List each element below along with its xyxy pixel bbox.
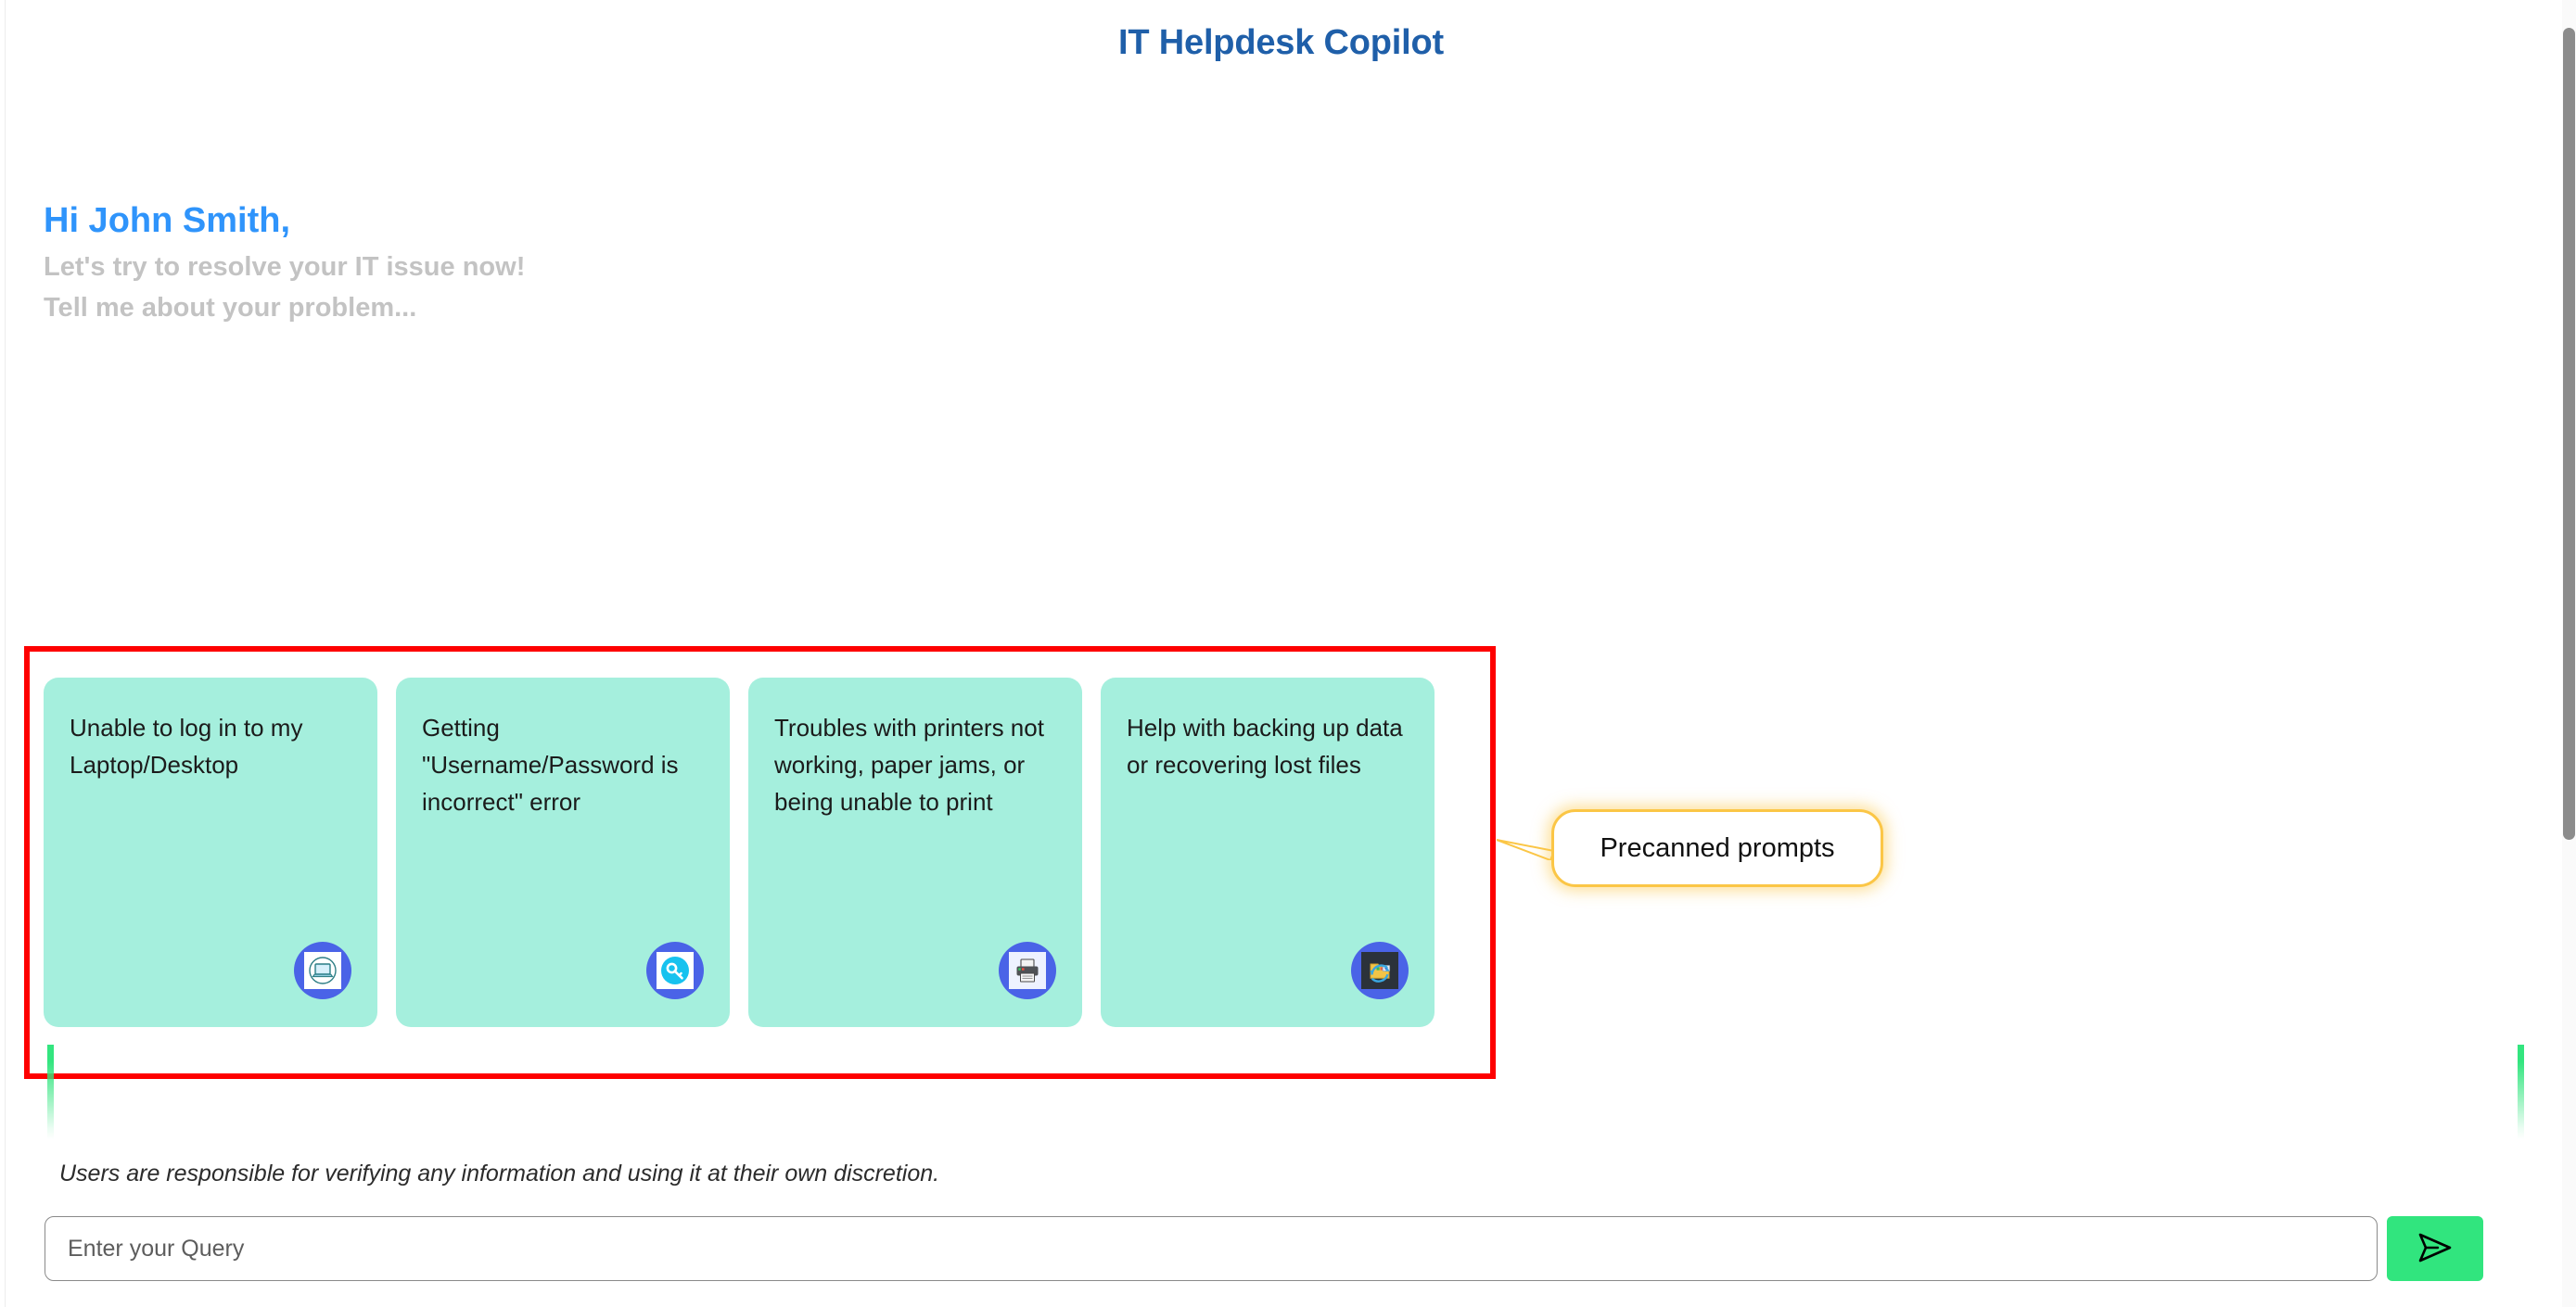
vertical-scrollbar-track[interactable]: [2562, 0, 2576, 1307]
callout-label: Precanned prompts: [1600, 833, 1834, 864]
vertical-scrollbar-thumb[interactable]: [2563, 28, 2575, 840]
callout-pointer-tail: [1497, 836, 1554, 860]
folder-restore-icon: [1361, 952, 1398, 989]
send-button[interactable]: [2387, 1216, 2483, 1281]
laptop-icon: [304, 952, 341, 989]
frame-left-divider: [5, 0, 6, 1307]
key-icon: [657, 952, 694, 989]
prompt-card-text: Troubles with printers not working, pape…: [774, 709, 1056, 820]
search-input[interactable]: [45, 1216, 2378, 1281]
prompt-card-icon-badge: [294, 942, 351, 999]
disclaimer-text: Users are responsible for verifying any …: [59, 1161, 939, 1187]
page-title: IT Helpdesk Copilot: [1118, 23, 1444, 63]
prompt-card-icon-badge: [999, 942, 1056, 999]
greeting-salutation: Hi John Smith,: [44, 197, 1156, 245]
precanned-prompt-card-backup[interactable]: Help with backing up data or recovering …: [1101, 678, 1435, 1027]
green-marker-left: [47, 1045, 54, 1139]
green-marker-right: [2518, 1045, 2524, 1139]
it-helpdesk-copilot-app: IT Helpdesk Copilot Hi John Smith, Let's…: [0, 0, 2576, 1307]
prompt-card-text: Help with backing up data or recovering …: [1127, 709, 1409, 783]
precanned-prompt-card-printer[interactable]: Troubles with printers not working, pape…: [748, 678, 1082, 1027]
greeting-block: Hi John Smith, Let's try to resolve your…: [44, 197, 1156, 328]
precanned-prompt-card-password[interactable]: Getting "Username/Password is incorrect"…: [396, 678, 730, 1027]
query-composer: [45, 1216, 2483, 1281]
send-paper-plane-icon: [2415, 1229, 2455, 1269]
printer-icon: [1009, 952, 1046, 989]
prompt-card-text: Getting "Username/Password is incorrect"…: [422, 709, 704, 820]
precanned-prompt-card-login[interactable]: Unable to log in to my Laptop/Desktop: [44, 678, 377, 1027]
precanned-prompts-row: Unable to log in to my Laptop/Desktop Ge…: [44, 678, 1435, 1027]
precanned-prompts-callout: Precanned prompts: [1551, 809, 1883, 887]
prompt-card-icon-badge: [646, 942, 704, 999]
prompt-card-text: Unable to log in to my Laptop/Desktop: [70, 709, 351, 783]
prompt-card-icon-badge: [1351, 942, 1409, 999]
greeting-line-2: Tell me about your problem...: [44, 287, 1156, 328]
greeting-line-1: Let's try to resolve your IT issue now!: [44, 247, 1156, 287]
app-header: IT Helpdesk Copilot: [0, 0, 2562, 85]
